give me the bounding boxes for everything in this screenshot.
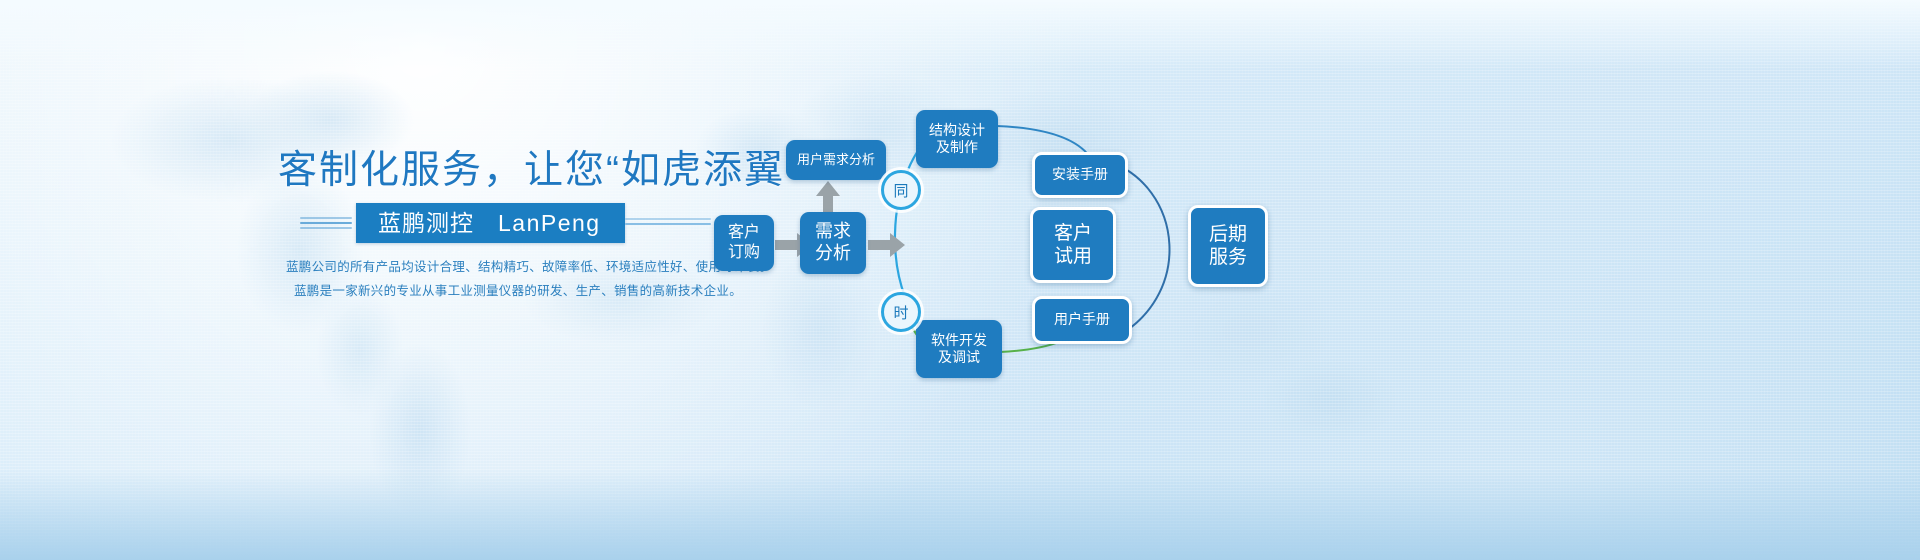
flow-node-software-development[interactable]: 软件开发及调试 bbox=[916, 320, 1002, 378]
flow-node-label: 软件开发及调试 bbox=[927, 332, 991, 366]
flow-connectors bbox=[0, 0, 1920, 560]
process-flow-diagram: 用户需求分析 客户订购 需求分析 结构设计及制作 软件开发及调试 安装手册 客户… bbox=[0, 0, 1920, 560]
flow-node-label: 后期服务 bbox=[1207, 223, 1249, 269]
flow-badge-simultaneous[interactable]: 同 bbox=[881, 170, 921, 210]
flow-node-after-service[interactable]: 后期服务 bbox=[1188, 205, 1268, 287]
flow-node-demand-analysis[interactable]: 需求分析 bbox=[800, 212, 866, 274]
flow-node-customer-order[interactable]: 客户订购 bbox=[714, 215, 774, 271]
flow-node-label: 客户试用 bbox=[1052, 222, 1094, 268]
flow-node-label: 结构设计及制作 bbox=[927, 122, 987, 156]
arrow-analysis-to-right bbox=[868, 233, 905, 257]
flow-node-user-demand-analysis[interactable]: 用户需求分析 bbox=[786, 140, 886, 180]
flow-node-label: 用户需求分析 bbox=[797, 152, 875, 168]
flow-badge-label: 同 bbox=[893, 180, 908, 201]
flow-node-label: 需求分析 bbox=[814, 221, 852, 265]
flow-node-label: 安装手册 bbox=[1052, 166, 1108, 183]
flow-node-structural-design[interactable]: 结构设计及制作 bbox=[916, 110, 998, 168]
flow-node-label: 客户订购 bbox=[727, 223, 761, 262]
flow-node-customer-trial[interactable]: 客户试用 bbox=[1030, 207, 1116, 283]
banner-stage: 客制化服务，让您“如虎添翼” 蓝鹏测控LanPeng 蓝鹏公司的所有产品均设计合… bbox=[0, 0, 1920, 560]
flow-badge-time[interactable]: 时 bbox=[881, 292, 921, 332]
flow-node-label: 用户手册 bbox=[1054, 311, 1110, 328]
flow-badge-label: 时 bbox=[893, 302, 908, 323]
flow-node-user-manual[interactable]: 用户手册 bbox=[1032, 296, 1132, 344]
flow-node-install-manual[interactable]: 安装手册 bbox=[1032, 152, 1128, 198]
